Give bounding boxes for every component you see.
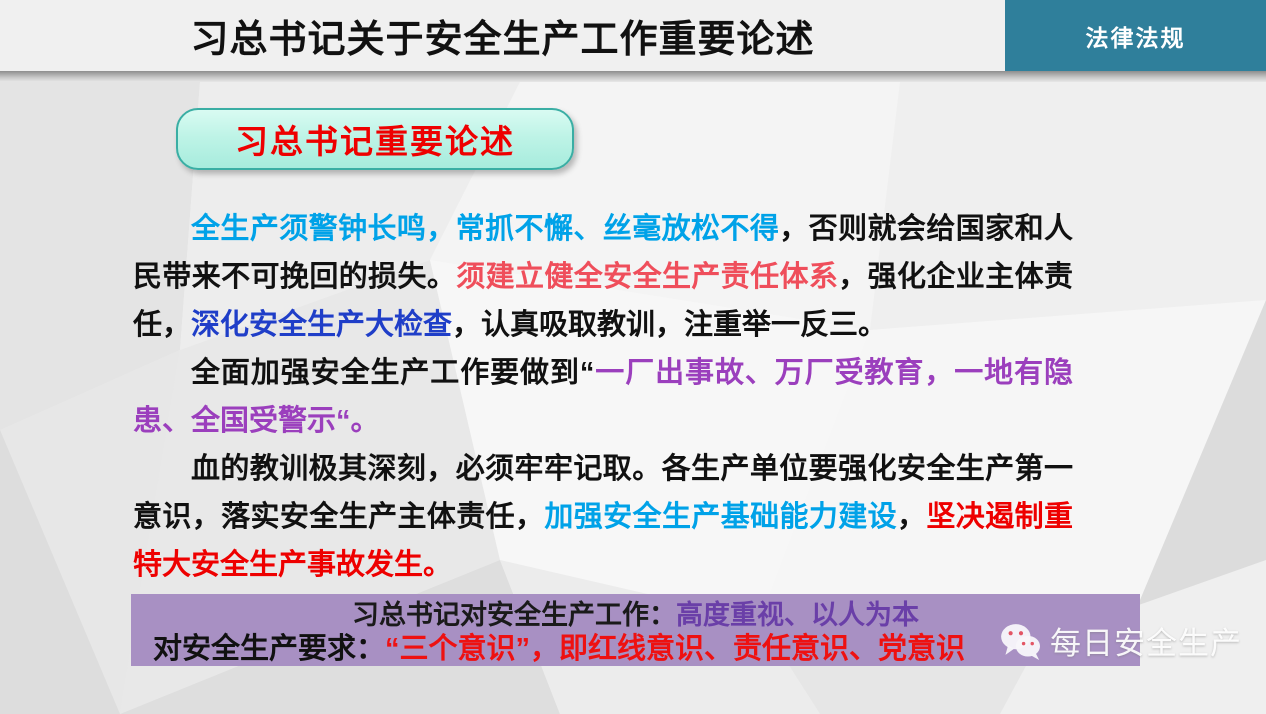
summary-banner-line-1: 习总书记对安全生产工作：高度重视、以人为本 <box>131 597 1140 633</box>
paragraph-2: 全面加强安全生产工作要做到“一厂出事故、万厂受教育，一地有隐患、全国受警示“。 <box>133 349 1073 445</box>
paragraph-1: 全生产须警钟长鸣，常抓不懈、丝毫放松不得，否则就会给国家和人民带来不可挽回的损失… <box>133 205 1073 349</box>
banner-l2-tail: 党意识 <box>878 633 965 665</box>
banner-l1-highlight: 高度重视、以人为本 <box>676 600 919 630</box>
p1-highlight-blue: 深化安全生产大检查 <box>191 309 452 341</box>
p1-highlight-cyan: 全生产须警钟长鸣，常抓不懈、丝毫放松不得 <box>191 213 779 245</box>
p2-plain-2: “。 <box>336 405 380 437</box>
p3-plain-2: ， <box>897 501 926 533</box>
p2-plain-1: 全面加强安全生产工作要做到“ <box>191 357 594 389</box>
summary-banner-line-2: 对安全生产要求：“三个意识”，即红线意识、责任意识、党意识 <box>153 630 1140 668</box>
header-bar: 习总书记关于安全生产工作重要论述 法律法规 <box>0 0 1266 71</box>
p1-highlight-red: 须建立健全安全生产责任体系 <box>456 261 838 293</box>
banner-l2-middle: ，即红线意识、责任意识、 <box>530 633 878 665</box>
category-tag: 法律法规 <box>1005 0 1266 71</box>
banner-l1-prefix: 习总书记对安全生产工作： <box>352 600 676 630</box>
banner-l2-quote: “三个意识” <box>385 633 530 665</box>
p3-highlight-cyan: 加强安全生产基础能力建设 <box>544 501 897 533</box>
summary-banner: 习总书记对安全生产工作：高度重视、以人为本 对安全生产要求：“三个意识”，即红线… <box>131 594 1140 666</box>
p1-plain-3: ，认真吸取教训，注重举一反三。 <box>452 309 887 341</box>
section-badge-label: 习总书记重要论述 <box>235 115 515 163</box>
body-copy: 全生产须警钟长鸣，常抓不懈、丝毫放松不得，否则就会给国家和人民带来不可挽回的损失… <box>133 205 1073 589</box>
banner-l2-prefix: 对安全生产要求： <box>153 633 385 665</box>
section-badge: 习总书记重要论述 <box>176 108 574 170</box>
paragraph-3: 血的教训极其深刻，必须牢牢记取。各生产单位要强化安全生产第一意识，落实安全生产主… <box>133 445 1073 589</box>
header-shadow-strip <box>0 71 1266 82</box>
page-title: 习总书记关于安全生产工作重要论述 <box>0 0 1005 71</box>
slide: 习总书记关于安全生产工作重要论述 法律法规 习总书记重要论述 全生产须警钟长鸣，… <box>0 0 1266 714</box>
